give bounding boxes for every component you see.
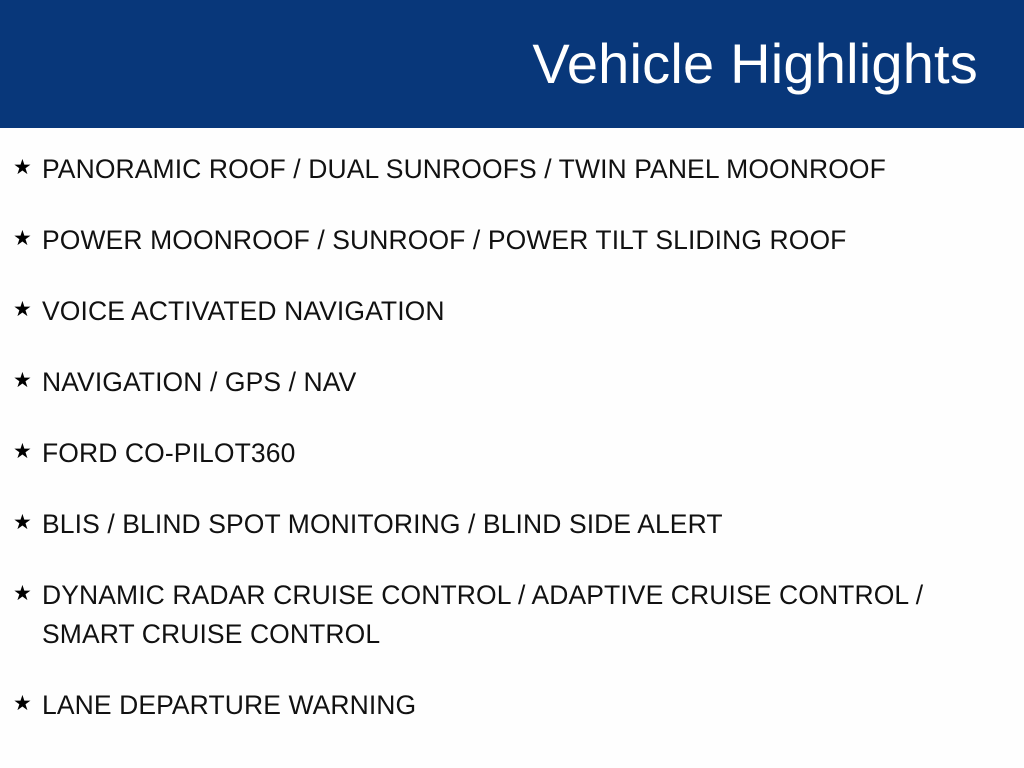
list-item: ★ FORD CO-PILOT360	[0, 434, 1024, 473]
vehicle-highlights-list: ★ PANORAMIC ROOF / DUAL SUNROOFS / TWIN …	[0, 128, 1024, 725]
vehicle-highlights-slide: Vehicle Highlights ★ PANORAMIC ROOF / DU…	[0, 0, 1024, 768]
star-bullet-icon: ★	[13, 434, 42, 468]
highlight-text: POWER MOONROOF / SUNROOF / POWER TILT SL…	[42, 221, 1014, 260]
highlight-text: FORD CO-PILOT360	[42, 434, 1014, 473]
highlight-text: BLIS / BLIND SPOT MONITORING / BLIND SID…	[42, 505, 1014, 544]
list-item: ★ BLIS / BLIND SPOT MONITORING / BLIND S…	[0, 505, 1024, 544]
star-bullet-icon: ★	[13, 221, 42, 255]
star-bullet-icon: ★	[13, 363, 42, 397]
highlight-text: LANE DEPARTURE WARNING	[42, 686, 1014, 725]
star-bullet-icon: ★	[13, 150, 42, 184]
highlight-text: NAVIGATION / GPS / NAV	[42, 363, 1014, 402]
list-item: ★ PANORAMIC ROOF / DUAL SUNROOFS / TWIN …	[0, 150, 1024, 189]
star-bullet-icon: ★	[13, 686, 42, 720]
list-item: ★ NAVIGATION / GPS / NAV	[0, 363, 1024, 402]
page-title: Vehicle Highlights	[532, 35, 978, 94]
highlight-text: VOICE ACTIVATED NAVIGATION	[42, 292, 1014, 331]
star-bullet-icon: ★	[13, 576, 42, 610]
header-banner: Vehicle Highlights	[0, 0, 1024, 128]
list-item: ★ POWER MOONROOF / SUNROOF / POWER TILT …	[0, 221, 1024, 260]
list-item: ★ DYNAMIC RADAR CRUISE CONTROL / ADAPTIV…	[0, 576, 1024, 654]
list-item: ★ VOICE ACTIVATED NAVIGATION	[0, 292, 1024, 331]
list-item: ★ LANE DEPARTURE WARNING	[0, 686, 1024, 725]
highlight-text: DYNAMIC RADAR CRUISE CONTROL / ADAPTIVE …	[42, 576, 1014, 654]
star-bullet-icon: ★	[13, 292, 42, 326]
highlight-text: PANORAMIC ROOF / DUAL SUNROOFS / TWIN PA…	[42, 150, 1014, 189]
star-bullet-icon: ★	[13, 505, 42, 539]
